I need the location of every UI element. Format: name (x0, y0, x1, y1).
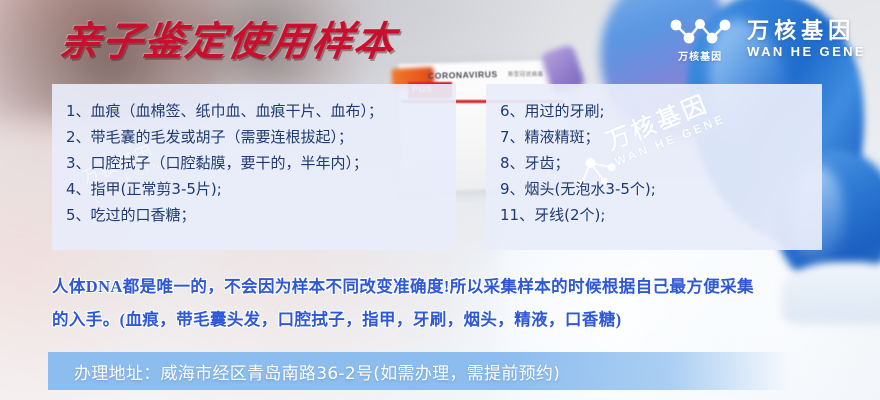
list-item: 1、血痕（血棉签、纸巾血、血痕干片、血布）； (66, 98, 456, 124)
list-item: 11、牙线(2个); (500, 202, 822, 228)
list-item: 6、用过的牙刷; (500, 98, 822, 124)
brand-wordmark: 万核基因 WAN HE GENE (747, 19, 866, 59)
brand-logo: 万核基因 万核基因 WAN HE GENE (667, 16, 866, 62)
address-bar: 办理地址：威海市经区青岛南路36-2号(如需办理，需提前预约) (48, 352, 790, 390)
list-item: 2、带毛囊的毛发或胡子（需要连根拔起）； (66, 124, 456, 150)
page-title: 亲子鉴定使用样本 (57, 22, 399, 62)
sample-list-panel-right: 万核基因 WAN HE GENE (486, 84, 822, 250)
sample-list-left: 1、血痕（血棉签、纸巾血、血痕干片、血布）； 2、带毛囊的毛发或胡子（需要连根拔… (52, 84, 456, 228)
poster-canvas: CORONAVIRUS POS 新型冠状病毒 亲子鉴定使用样本 (0, 0, 880, 400)
list-item: 5、吃过的口香糖； (66, 202, 456, 228)
molecule-node-graph-icon: 万核基因 (667, 16, 733, 62)
brand-name-en: WAN HE GENE (747, 45, 866, 59)
address-text: 办理地址：威海市经区青岛南路36-2号(如需办理，需提前预约) (48, 359, 560, 384)
list-item: 7、精液精斑； (500, 124, 822, 150)
list-item: 4、指甲(正常剪3-5片); (66, 176, 456, 202)
explanatory-paragraph: 人体DNA都是唯一的，不会因为样本不同改变准确度!所以采集样本的时候根据自己最方… (52, 270, 842, 336)
list-item: 9、烟头(无泡水3-5个); (500, 176, 822, 202)
sample-list-panel-left: 万核基因 WAN HE GENE 1、血痕（血棉签、纸巾血、血痕干片、血布）； … (52, 84, 456, 250)
list-item: 3、口腔拭子（口腔黏膜，要干的，半年内）； (66, 150, 456, 176)
paragraph-line-2: 的入手。(血痕，带毛囊头发，口腔拭子，指甲，牙刷，烟头，精液，口香糖) (52, 303, 842, 336)
list-item: 8、牙齿； (500, 150, 822, 176)
logo-mark-caption: 万核基因 (667, 48, 733, 63)
brand-name-cn: 万核基因 (747, 19, 866, 42)
sample-list-right: 6、用过的牙刷; 7、精液精斑； 8、牙齿； 9、烟头(无泡水3-5个); 11… (486, 84, 822, 228)
paragraph-line-1: 人体DNA都是唯一的，不会因为样本不同改变准确度!所以采集样本的时候根据自己最方… (52, 270, 842, 303)
